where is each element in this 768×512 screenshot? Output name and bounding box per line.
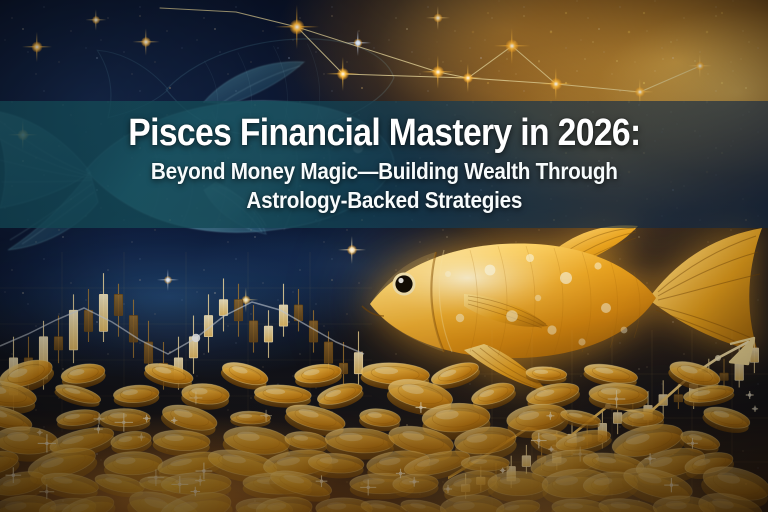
page-title: Pisces Financial Mastery in 2026: [128, 114, 640, 153]
subtitle-line-2: Astrology-Backed Strategies [151, 186, 618, 215]
page-subtitle: Beyond Money Magic—Building Wealth Throu… [151, 157, 618, 215]
title-banner: Pisces Financial Mastery in 2026: Beyond… [0, 101, 768, 228]
subtitle-line-1: Beyond Money Magic—Building Wealth Throu… [151, 157, 618, 186]
warm-bottom-gradient [0, 232, 768, 512]
poster-canvas: Pisces Financial Mastery in 2026: Beyond… [0, 0, 768, 512]
